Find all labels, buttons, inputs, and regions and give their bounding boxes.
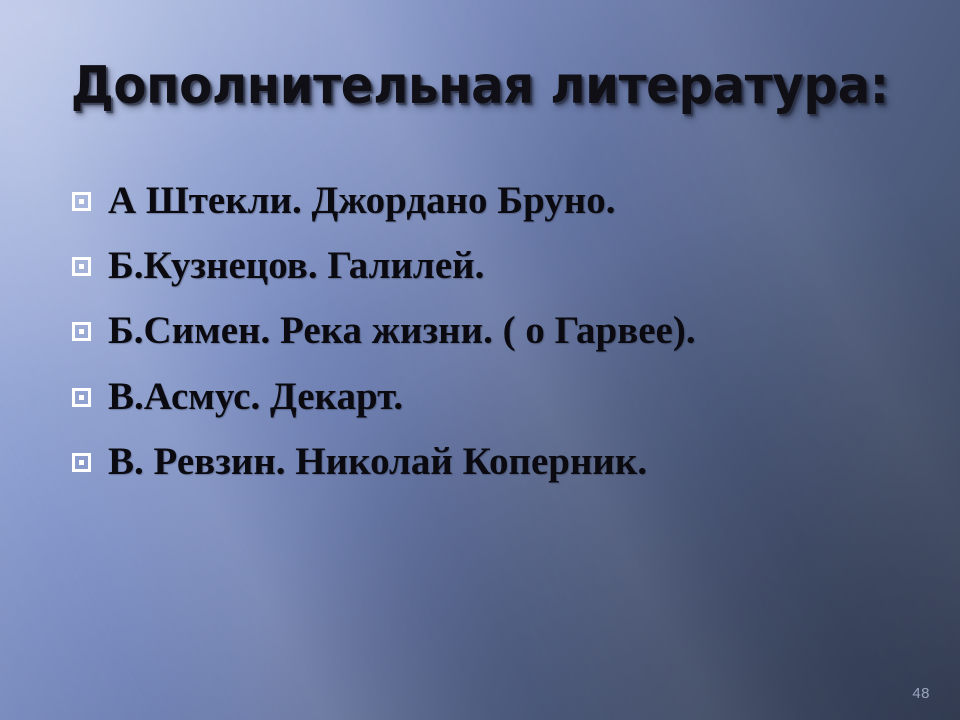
list-item: В.Асмус. Декарт.	[72, 374, 912, 419]
list-item: В. Ревзин. Николай Коперник.	[72, 439, 912, 484]
page-number: 48	[912, 685, 930, 702]
slide-title: Дополнительная литература:	[71, 60, 889, 112]
square-bullet-icon	[72, 192, 91, 211]
list-item-label: Б.Симен. Река жизни. ( о Гарвее).	[108, 308, 696, 353]
slide: Дополнительная литература: А Штекли. Джо…	[0, 0, 960, 720]
list-item: Б.Кузнецов. Галилей.	[72, 243, 912, 288]
list-item-label: А Штекли. Джордано Бруно.	[108, 178, 615, 223]
square-bullet-icon	[72, 388, 91, 407]
square-bullet-icon	[72, 322, 91, 341]
bullet-list: А Штекли. Джордано Бруно. Б.Кузнецов. Га…	[72, 178, 912, 484]
slide-title-placeholder: Дополнительная литература:	[40, 38, 920, 134]
square-bullet-icon	[72, 257, 91, 276]
list-item-label: Б.Кузнецов. Галилей.	[108, 243, 484, 288]
list-item-label: В. Ревзин. Николай Коперник.	[108, 439, 647, 484]
list-item: Б.Симен. Река жизни. ( о Гарвее).	[72, 308, 912, 353]
list-item-label: В.Асмус. Декарт.	[108, 374, 403, 419]
square-bullet-icon	[72, 453, 91, 472]
list-item: А Штекли. Джордано Бруно.	[72, 178, 912, 223]
